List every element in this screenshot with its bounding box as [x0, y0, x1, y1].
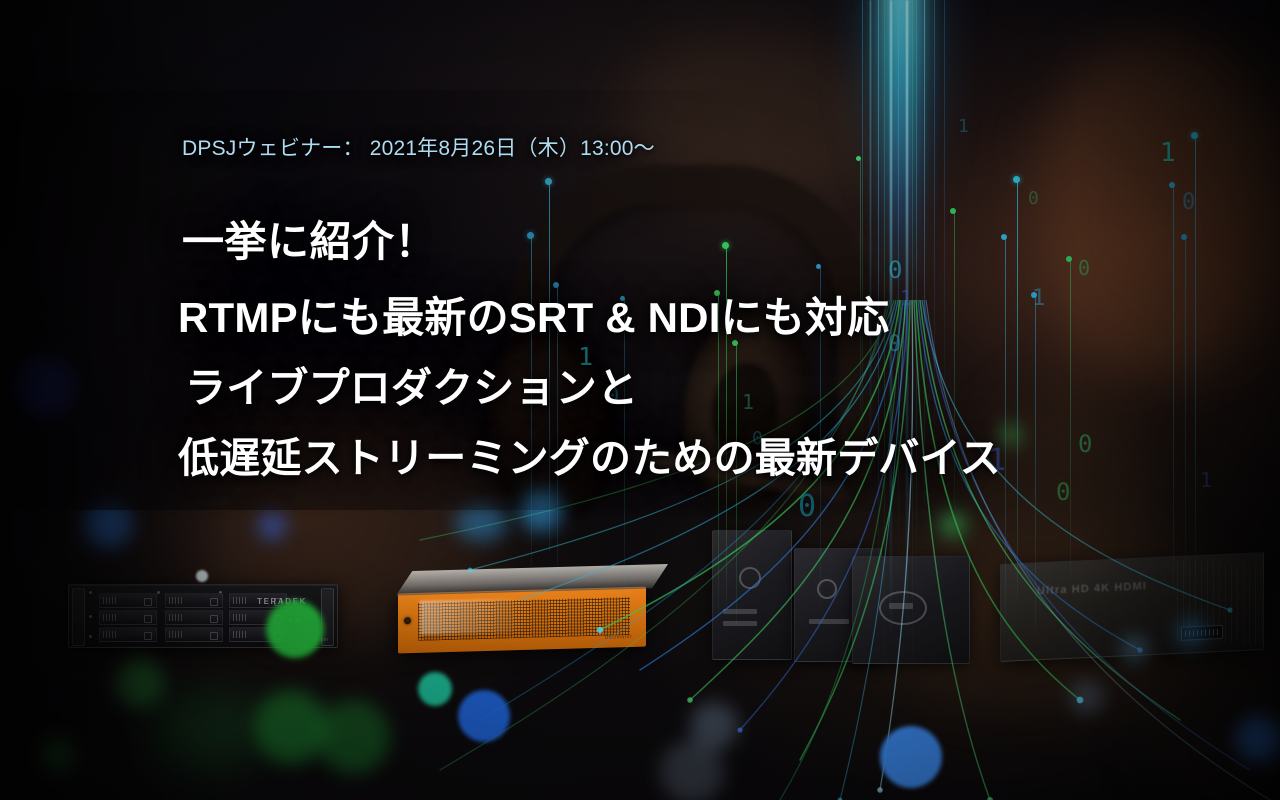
- bokeh-circle: [455, 505, 507, 541]
- bokeh-circle: [458, 690, 510, 742]
- stem-dot: [1066, 256, 1072, 262]
- binary-digit: 0: [606, 386, 619, 408]
- bokeh-circle: [150, 690, 270, 770]
- stem-dot: [856, 156, 861, 161]
- stem-dot: [732, 340, 738, 346]
- stem-dot: [1181, 234, 1187, 240]
- binary-digit: 0: [888, 334, 901, 356]
- binary-digit: 1: [900, 288, 912, 308]
- bokeh-circle: [880, 726, 942, 788]
- bokeh-circle: [1236, 716, 1280, 762]
- stem-dot: [553, 282, 559, 288]
- binary-digit: 1: [578, 344, 593, 369]
- binary-digit: 1: [988, 446, 1006, 476]
- binary-digit: 0: [1028, 190, 1039, 208]
- bokeh-circle: [40, 738, 74, 772]
- stem-dot: [620, 296, 625, 301]
- binary-digit: 0: [888, 258, 902, 282]
- bokeh-circle: [1176, 618, 1206, 648]
- stem-dot: [1169, 182, 1175, 188]
- stem-dot: [545, 178, 552, 185]
- bokeh-circle: [660, 740, 724, 800]
- binary-digit: 0: [1182, 192, 1195, 214]
- stem-dot: [816, 264, 821, 269]
- binary-digit: 0: [1078, 432, 1092, 456]
- bokeh-circle: [418, 672, 452, 706]
- stem-dot: [1013, 176, 1020, 183]
- binary-digit: 0: [798, 492, 816, 522]
- bokeh-circle: [196, 570, 208, 582]
- stem-dot: [527, 232, 534, 239]
- bokeh-circle: [940, 512, 966, 538]
- bokeh-circle: [1070, 680, 1104, 714]
- binary-digit: 0: [1056, 480, 1070, 504]
- bokeh-circle: [520, 490, 562, 532]
- binary-digit: 1: [742, 392, 754, 412]
- stem-dot: [1191, 132, 1198, 139]
- bokeh-circle: [1122, 636, 1148, 662]
- webinar-banner: TERADEK Power Decimator Ultra HD 4K HDMI: [0, 0, 1280, 800]
- stem-dot: [722, 242, 729, 249]
- binary-digit: 1: [958, 118, 969, 136]
- stem-dot: [1001, 234, 1007, 240]
- binary-digit: 0: [752, 430, 763, 448]
- bokeh-circle: [116, 660, 164, 708]
- stem-dot: [950, 208, 956, 214]
- binary-digit: 1: [1032, 288, 1045, 310]
- stem-dot: [714, 290, 720, 296]
- bokeh-circle: [316, 700, 390, 774]
- bokeh-circle: [84, 500, 132, 548]
- bokeh-circle: [16, 358, 74, 416]
- bokeh-circle: [266, 600, 324, 658]
- binary-digit: 1: [1200, 470, 1212, 490]
- binary-digit: 0: [1078, 258, 1090, 278]
- binary-digit: 1: [1160, 140, 1176, 166]
- bokeh-circle: [1000, 424, 1022, 446]
- bokeh-circle: [258, 512, 286, 540]
